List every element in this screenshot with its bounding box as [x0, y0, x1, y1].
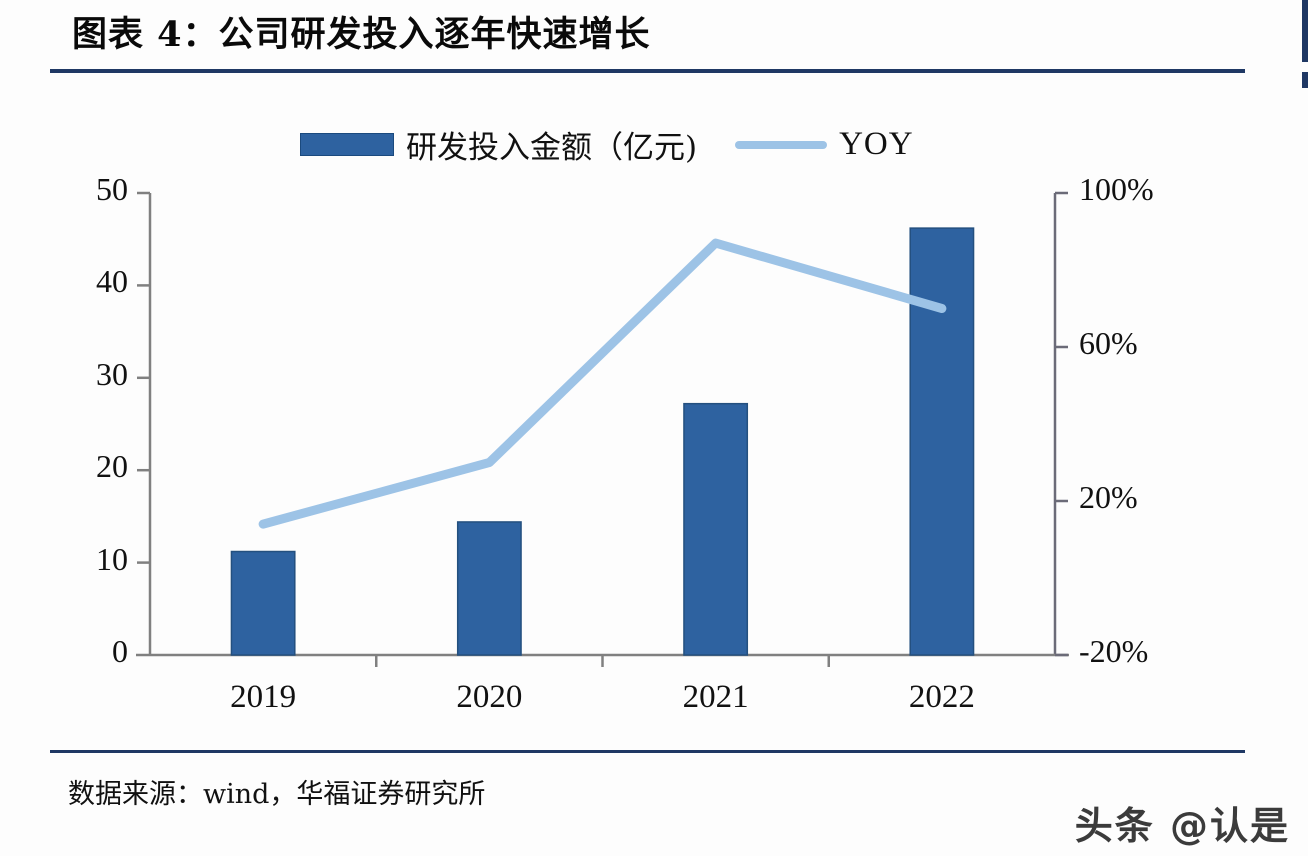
legend-item-line: YOY: [735, 126, 914, 163]
yoy-line: [263, 243, 942, 524]
watermark: 头条 @认是: [1075, 795, 1290, 850]
page-edge-rule-top: [1302, 0, 1308, 62]
figure-page: 图表 4：公司研发投入逐年快速增长 研发投入金额（亿元) YOY 0102030…: [0, 0, 1308, 856]
x-axis-category-label: 2019: [173, 679, 353, 716]
y-axis-left-tick-label: 30: [96, 356, 128, 393]
page-title: 图表 4：公司研发投入逐年快速增长: [72, 6, 651, 57]
x-axis-category-label: 2021: [626, 679, 806, 716]
page-edge-rule-lower: [1302, 72, 1308, 88]
bar-2019: [231, 552, 294, 655]
bar-2022: [910, 228, 973, 655]
chart-legend: 研发投入金额（亿元) YOY: [300, 122, 914, 167]
bar-2021: [684, 404, 747, 655]
legend-item-label: 研发投入金额（亿元): [406, 122, 697, 167]
y-axis-left-tick-label: 50: [96, 171, 128, 208]
legend-bar-swatch-icon: [300, 133, 394, 156]
source-note: 数据来源：wind，华福证券研究所: [68, 772, 485, 811]
title-divider: [50, 69, 1245, 73]
legend-item-bar: 研发投入金额（亿元): [300, 122, 697, 167]
y-axis-left-tick-label: 0: [112, 633, 128, 670]
y-axis-left-tick-label: 10: [96, 541, 128, 578]
y-axis-left-tick-label: 20: [96, 448, 128, 485]
legend-line-swatch-icon: [735, 141, 827, 149]
y-axis-right-tick-label: 20%: [1079, 479, 1138, 516]
footer-divider: [50, 750, 1245, 753]
x-axis-category-label: 2020: [399, 679, 579, 716]
y-axis-right-tick-label: 60%: [1079, 325, 1138, 362]
y-axis-right-tick-label: -20%: [1079, 633, 1148, 670]
bar-2020: [458, 522, 521, 655]
x-axis-category-label: 2022: [852, 679, 1032, 716]
y-axis-right-tick-label: 100%: [1079, 171, 1154, 208]
y-axis-left-tick-label: 40: [96, 263, 128, 300]
legend-item-label: YOY: [839, 126, 914, 163]
